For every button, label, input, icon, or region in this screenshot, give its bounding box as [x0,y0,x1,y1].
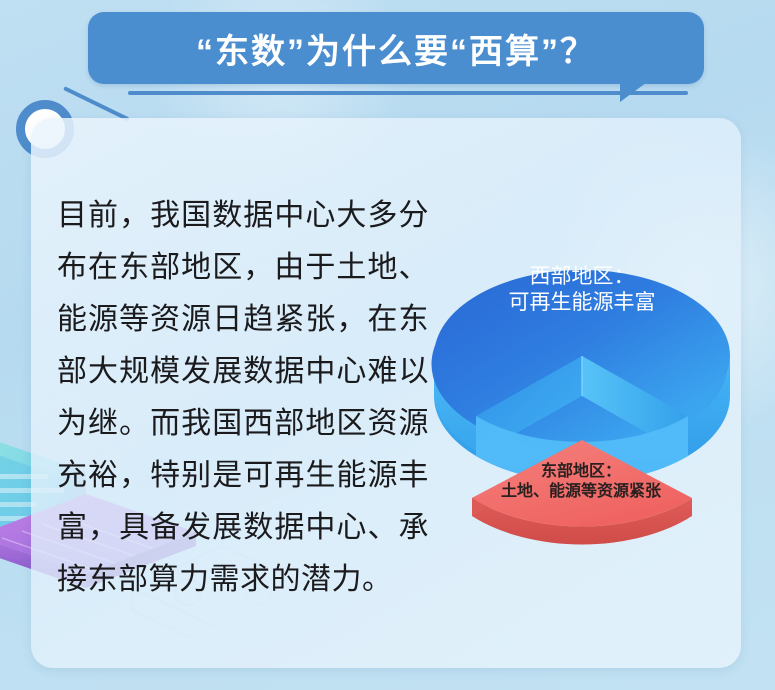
slice-label-east: 东部地区： 土地、能源等资源紧张 [452,462,710,501]
connector-diagonal [63,86,129,121]
infographic-poster: “东数”为什么要“西算”？ 目前，我国数据中心大多分布在东部地区，由于土地、能源… [0,0,775,690]
slice-label-west-line2: 可再生能源丰富 [460,290,704,316]
title-banner: “东数”为什么要“西算”？ [88,12,704,84]
slice-label-east-line2: 土地、能源等资源紧张 [452,482,710,502]
body-paragraph: 目前，我国数据中心大多分布在东部地区，由于土地、能源等资源日趋紧张，在东部大规模… [57,190,429,606]
pie-chart-3d: 西部地区： 可再生能源丰富 东部地区： 土地、能源等资源紧张 [424,244,740,564]
slice-label-east-line1: 东部地区： [452,462,710,482]
slice-label-west: 西部地区： 可再生能源丰富 [460,264,704,315]
page-title: “东数”为什么要“西算”？ [196,24,596,73]
slice-label-west-line1: 西部地区： [460,264,704,290]
connector-line [128,91,688,95]
